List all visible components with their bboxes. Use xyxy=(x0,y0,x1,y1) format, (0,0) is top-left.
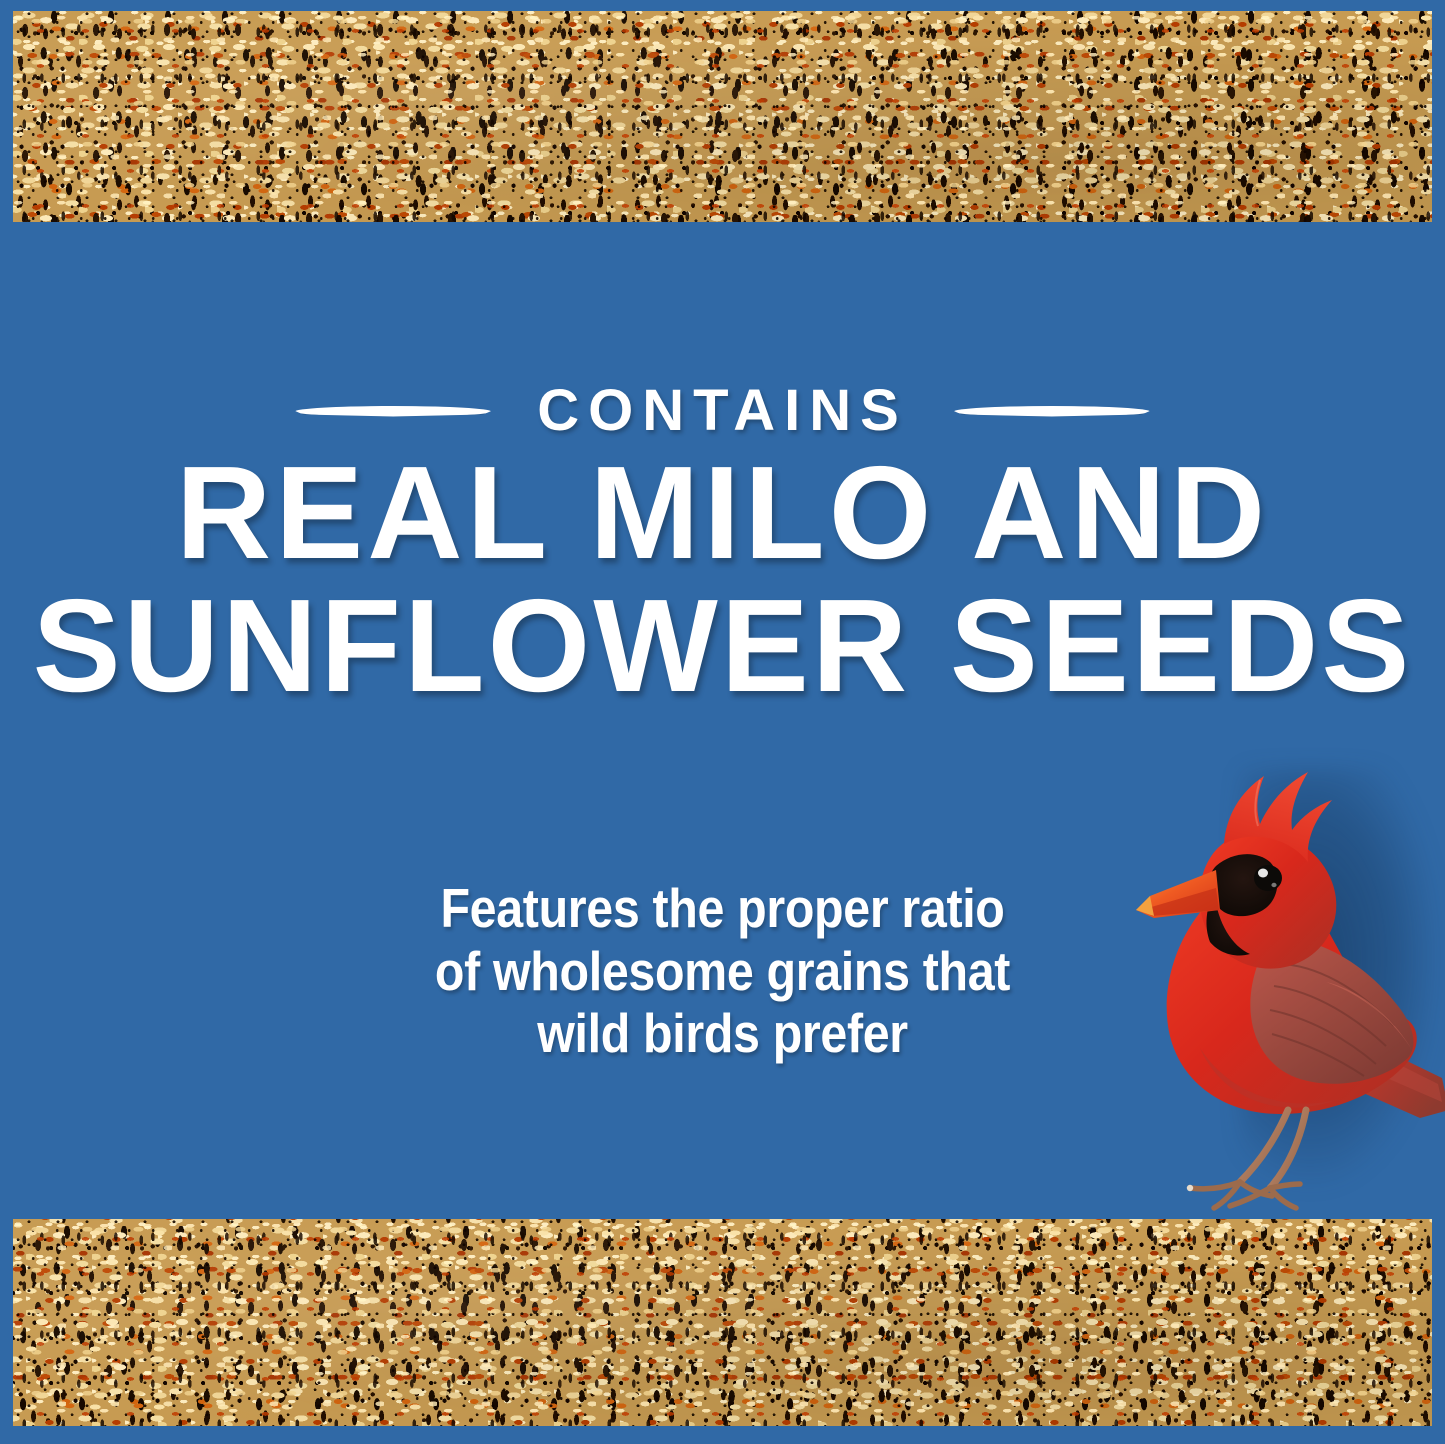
bird-seed-mix-texture-top xyxy=(13,11,1432,222)
headline-line-2: SUNFLOWER SEEDS xyxy=(0,583,1445,708)
decorative-rule-right-icon xyxy=(954,406,1150,417)
kicker-label: CONTAINS xyxy=(537,382,908,440)
product-feature-panel: CONTAINS REAL MILO AND SUNFLOWER SEEDS F… xyxy=(0,0,1445,1444)
seed-texture-band-bottom xyxy=(13,1219,1432,1426)
northern-cardinal-icon xyxy=(1120,758,1445,1213)
seed-texture-band-top xyxy=(13,11,1432,222)
headline: REAL MILO AND SUNFLOWER SEEDS xyxy=(0,450,1445,709)
bird-seed-mix-texture-bottom xyxy=(13,1219,1432,1426)
cardinal-bird-illustration xyxy=(1120,758,1445,1213)
kicker-row: CONTAINS xyxy=(0,382,1445,440)
decorative-rule-left-icon xyxy=(295,406,491,417)
headline-line-1: REAL MILO AND xyxy=(0,450,1445,575)
